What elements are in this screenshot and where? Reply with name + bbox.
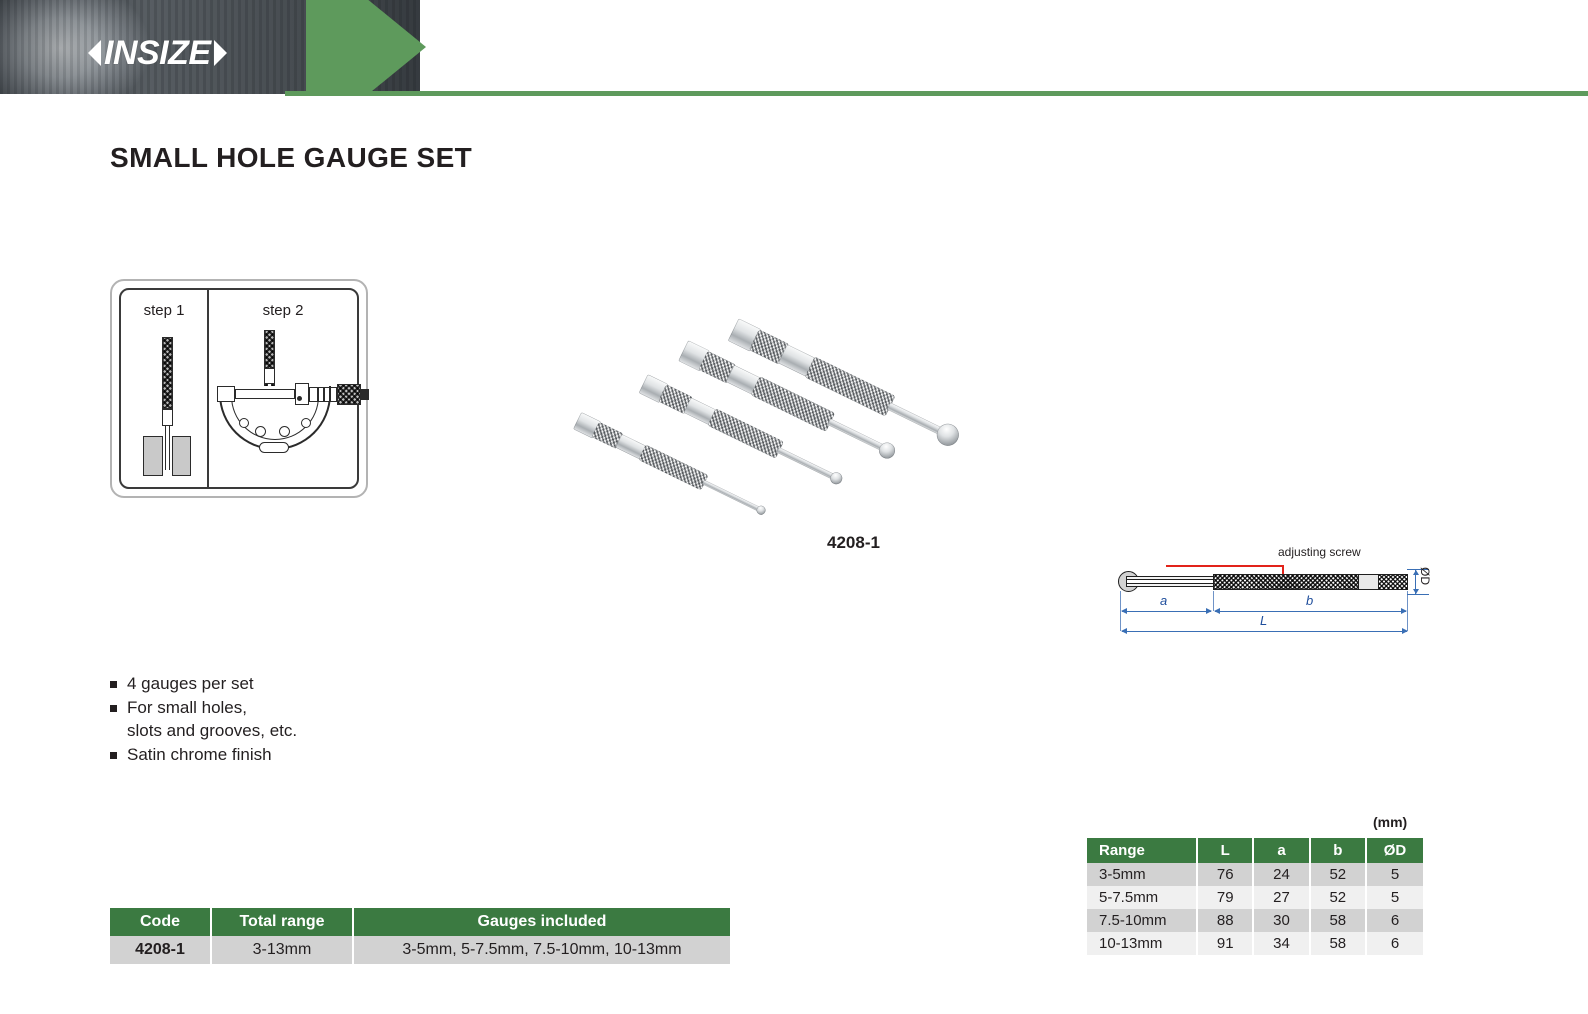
cell-od: 5 [1366, 886, 1423, 909]
micrometer-lock [295, 383, 309, 405]
adjusting-screw-label: adjusting screw [1278, 545, 1361, 559]
feature-text: Satin chrome finish [127, 743, 272, 766]
cell-b: 58 [1310, 909, 1366, 932]
dim-a-arrow-right [1206, 608, 1212, 614]
dim-L-arrow-right [1402, 628, 1408, 634]
table-row: 7.5-10mm 88 30 58 6 [1087, 909, 1423, 932]
cell-l: 76 [1197, 863, 1253, 886]
dim-b-arrow-right [1401, 608, 1407, 614]
dim-a-label: a [1160, 593, 1167, 608]
gauge-tip [755, 504, 767, 516]
cell-a: 24 [1253, 863, 1309, 886]
col-header-a: a [1253, 838, 1309, 863]
cell-od: 6 [1366, 932, 1423, 955]
step1-gauge-collar [162, 409, 173, 426]
page-title: SMALL HOLE GAUGE SET [110, 142, 472, 174]
cell-l: 91 [1197, 932, 1253, 955]
arrow-left-icon [88, 40, 101, 66]
micrometer-scale-tick [329, 387, 331, 402]
feature-text-line1: For small holes, [127, 698, 247, 717]
micrometer-hole [255, 426, 266, 437]
cell-range: 10-13mm [1087, 932, 1197, 955]
ordering-table: Code Total range Gauges included 4208-1 … [110, 908, 730, 964]
dim-a-arrow-left [1121, 608, 1127, 614]
step1-gauge-handle [162, 337, 173, 409]
col-header-b: b [1310, 838, 1366, 863]
page-header: INSIZE [0, 0, 1588, 99]
cell-range: 7.5-10mm [1087, 909, 1197, 932]
feature-text: For small holes, slots and grooves, etc. [127, 696, 297, 742]
col-header-l: L [1197, 838, 1253, 863]
col-header-range: Range [1087, 838, 1197, 863]
feature-text-line2: slots and grooves, etc. [127, 721, 297, 740]
feature-text: 4 gauges per set [127, 672, 254, 695]
cell-b: 52 [1310, 863, 1366, 886]
cell-range: 5-7.5mm [1087, 886, 1197, 909]
step-1-pane: step 1 [121, 290, 209, 487]
table-row: 10-13mm 91 34 58 6 [1087, 932, 1423, 955]
dim-b-arrow-left [1214, 608, 1220, 614]
dim-OD-label: ØD [1418, 567, 1432, 585]
cell-range: 3-5mm [1087, 863, 1197, 886]
step1-gauge-tip [165, 436, 170, 470]
feature-item: Satin chrome finish [110, 743, 297, 766]
unit-label-mm: (mm) [1373, 814, 1407, 830]
gauge-knurl-body [707, 408, 784, 458]
micrometer-hole [301, 418, 311, 428]
usage-steps-box: step 1 step 2 [110, 279, 368, 498]
bullet-square-icon [110, 681, 117, 688]
cell-od: 6 [1366, 909, 1423, 932]
dim-L-arrow-left [1121, 628, 1127, 634]
micrometer-ratchet [361, 389, 369, 400]
feature-item: For small holes, slots and grooves, etc. [110, 696, 297, 742]
step-1-label: step 1 [121, 302, 207, 319]
insize-logo: INSIZE [88, 36, 227, 70]
col-header-code: Code [110, 908, 211, 936]
dim-L-line [1122, 631, 1407, 632]
micrometer-anvil [217, 386, 235, 402]
feature-item: 4 gauges per set [110, 672, 297, 695]
dim-a-line [1122, 611, 1211, 612]
cell-l: 79 [1197, 886, 1253, 909]
micrometer-spindle [235, 389, 295, 399]
gauge-knurl-body [638, 444, 708, 490]
drawing-collar [1358, 574, 1380, 590]
product-photo [555, 300, 995, 535]
cell-a: 30 [1253, 909, 1309, 932]
dim-OD-arrow-down [1413, 589, 1419, 594]
step2-gauge-collar [264, 368, 275, 384]
micrometer-scale-tick [323, 387, 325, 402]
callout-leader-horizontal [1166, 565, 1284, 567]
cell-gauges: 3-5mm, 5-7.5mm, 7.5-10mm, 10-13mm [353, 936, 730, 964]
cell-a: 34 [1253, 932, 1309, 955]
dim-b-label: b [1306, 593, 1313, 608]
dimensions-table: Range L a b ØD 3-5mm 76 24 52 5 5-7.5mm … [1087, 838, 1423, 955]
bullet-square-icon [110, 752, 117, 759]
table-header-row: Code Total range Gauges included [110, 908, 730, 936]
header-green-rule [285, 91, 1588, 96]
gauge-stem [702, 480, 764, 513]
dim-ext-line [1407, 591, 1408, 631]
cell-code: 4208-1 [110, 936, 211, 964]
micrometer-thimble [337, 384, 361, 405]
cell-b: 52 [1310, 886, 1366, 909]
micrometer-pin [297, 396, 302, 401]
col-header-total-range: Total range [211, 908, 353, 936]
micrometer-hole [279, 426, 290, 437]
cell-l: 88 [1197, 909, 1253, 932]
technical-drawing: adjusting screw a b L ØD [1118, 545, 1428, 640]
dim-b-line [1215, 611, 1406, 612]
dim-OD-ext-bottom [1407, 594, 1429, 595]
table-row: 3-5mm 76 24 52 5 [1087, 863, 1423, 886]
table-header-row: Range L a b ØD [1087, 838, 1423, 863]
arrow-right-icon [214, 40, 227, 66]
bullet-square-icon [110, 705, 117, 712]
table-row: 4208-1 3-13mm 3-5mm, 5-7.5mm, 7.5-10mm, … [110, 936, 730, 964]
col-header-od: ØD [1366, 838, 1423, 863]
col-header-gauges: Gauges included [353, 908, 730, 936]
step-2-label: step 2 [209, 302, 357, 319]
drawing-adjusting-screw [1378, 574, 1408, 590]
micrometer-hole [239, 418, 249, 428]
product-code-label: 4208-1 [827, 533, 880, 553]
cell-a: 27 [1253, 886, 1309, 909]
cell-od: 5 [1366, 863, 1423, 886]
feature-list: 4 gauges per set For small holes, slots … [110, 672, 297, 767]
dim-L-label: L [1260, 613, 1267, 628]
cell-b: 58 [1310, 932, 1366, 955]
logo-wordmark: INSIZE [104, 36, 211, 70]
cell-total-range: 3-13mm [211, 936, 353, 964]
step-2-pane: step 2 [209, 290, 357, 487]
micrometer-scale-tick [317, 387, 319, 402]
micrometer-oval-cutout [259, 442, 289, 453]
table-row: 5-7.5mm 79 27 52 5 [1087, 886, 1423, 909]
drawing-knurled-handle [1213, 574, 1363, 590]
